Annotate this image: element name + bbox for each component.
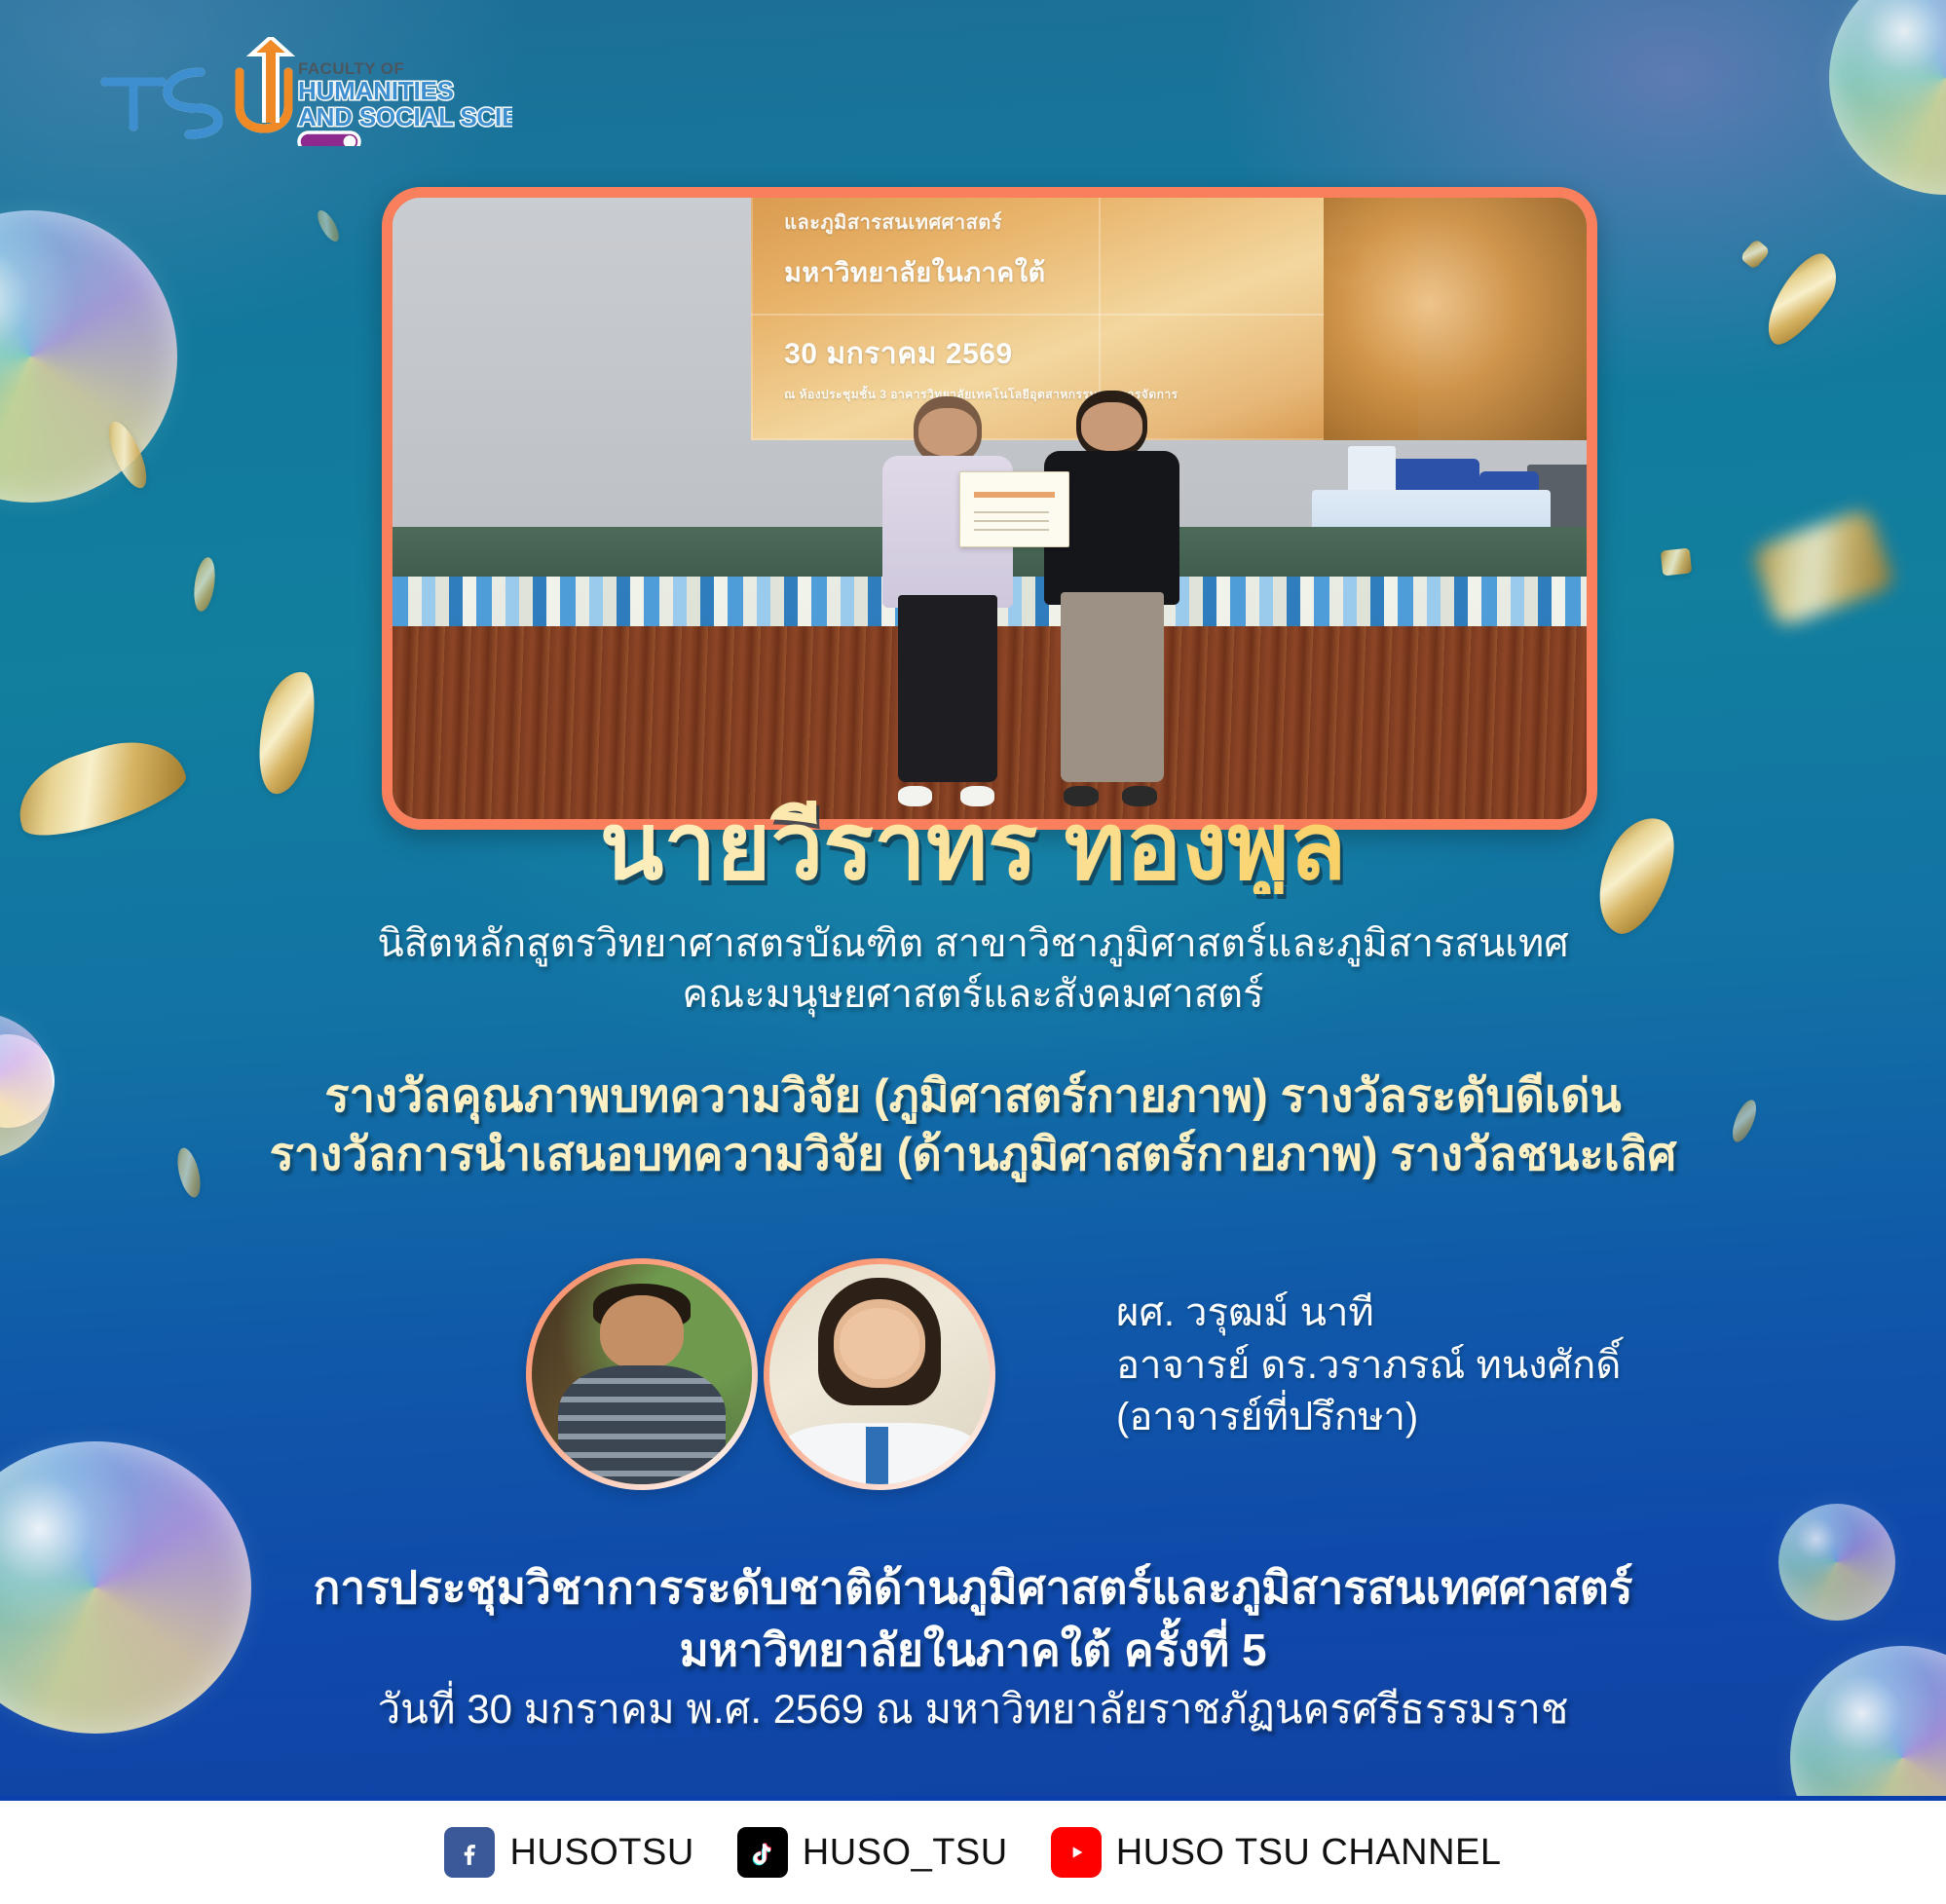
gold-confetti <box>1753 245 1849 354</box>
award-ceremony-photo: และภูมิสารสนเทศศาสตร์ มหาวิทยาลัยในภาคใต… <box>382 187 1597 830</box>
screen-line-1: และภูมิสารสนเทศศาสตร์ <box>784 206 1002 238</box>
clock-graphic <box>1324 198 1587 440</box>
svg-text:HUMANITIES: HUMANITIES <box>298 76 454 105</box>
youtube-icon <box>1051 1827 1102 1878</box>
honoree-faculty: คณะมนุษยศาสตร์และสังคมศาสตร์ <box>0 970 1946 1020</box>
advisor-line-3: (อาจารย์ที่ปรึกษา) <box>1116 1392 1621 1444</box>
conference-line-1: การประชุมวิชาการระดับชาติด้านภูมิศาสตร์แ… <box>0 1552 1946 1624</box>
screen-line-3: 30 มกราคม 2569 <box>784 331 1013 377</box>
gold-confetti <box>1750 507 1896 629</box>
svg-text:AND SOCIAL SCIENCES: AND SOCIAL SCIENCES <box>298 102 512 131</box>
gold-confetti <box>191 556 218 613</box>
award-line-2: รางวัลการนำเสนอบทความวิจัย (ด้านภูมิศาสต… <box>0 1124 1946 1183</box>
facebook-handle: HUSOTSU <box>509 1832 693 1874</box>
social-footer: HUSOTSU HUSO_TSU HUSO TSU CHANNEL <box>0 1796 1946 1904</box>
certificate <box>959 471 1068 548</box>
gold-confetti <box>248 666 323 799</box>
youtube-link[interactable]: HUSO TSU CHANNEL <box>1051 1827 1502 1878</box>
advisor-avatar-1 <box>526 1258 758 1490</box>
conference-line-2: มหาวิทยาลัยในภาคใต้ ครั้งที่ 5 <box>0 1615 1946 1686</box>
soap-bubble-decoration <box>0 210 177 503</box>
student-figure <box>870 396 1025 794</box>
screen-line-2: มหาวิทยาลัยในภาคใต้ <box>784 251 1045 293</box>
award-line-1: รางวัลคุณภาพบทความวิจัย (ภูมิศาสตร์กายภา… <box>0 1065 1946 1125</box>
tiktok-icon <box>737 1827 788 1878</box>
advisor-line-2: อาจารย์ ดร.วราภรณ์ ทนงศักดิ์ <box>1116 1340 1621 1393</box>
vase-prop <box>1348 446 1396 496</box>
conference-line-3: วันที่ 30 มกราคม พ.ศ. 2569 ณ มหาวิทยาลัย… <box>0 1677 1946 1741</box>
facebook-icon <box>444 1827 495 1878</box>
advisor-avatar-2 <box>764 1258 995 1490</box>
youtube-handle: HUSO TSU CHANNEL <box>1116 1832 1502 1874</box>
honoree-program: นิสิตหลักสูตรวิทยาศาสตรบัณฑิต สาขาวิชาภู… <box>0 919 1946 969</box>
gold-confetti <box>1740 239 1771 271</box>
advisor-names: ผศ. วรุฒม์ นาที อาจารย์ ดร.วราภรณ์ ทนงศั… <box>1116 1288 1621 1444</box>
tsu-faculty-logo: FACULTY OF HUMANITIES AND SOCIAL SCIENCE… <box>55 37 512 146</box>
poster-canvas: FACULTY OF HUMANITIES AND SOCIAL SCIENCE… <box>0 0 1946 1904</box>
tiktok-link[interactable]: HUSO_TSU <box>737 1827 1008 1878</box>
advisor-avatars <box>526 1258 974 1482</box>
facebook-link[interactable]: HUSOTSU <box>444 1827 693 1878</box>
advisor-line-1: ผศ. วรุฒม์ นาที <box>1116 1288 1621 1340</box>
presenter-figure <box>1031 391 1193 795</box>
gold-confetti <box>1661 548 1693 577</box>
honoree-name: นายวีราทร ทองพูล <box>0 801 1946 894</box>
tiktok-handle: HUSO_TSU <box>803 1832 1008 1874</box>
gold-confetti <box>314 207 343 244</box>
soap-bubble-decoration <box>1829 0 1946 195</box>
